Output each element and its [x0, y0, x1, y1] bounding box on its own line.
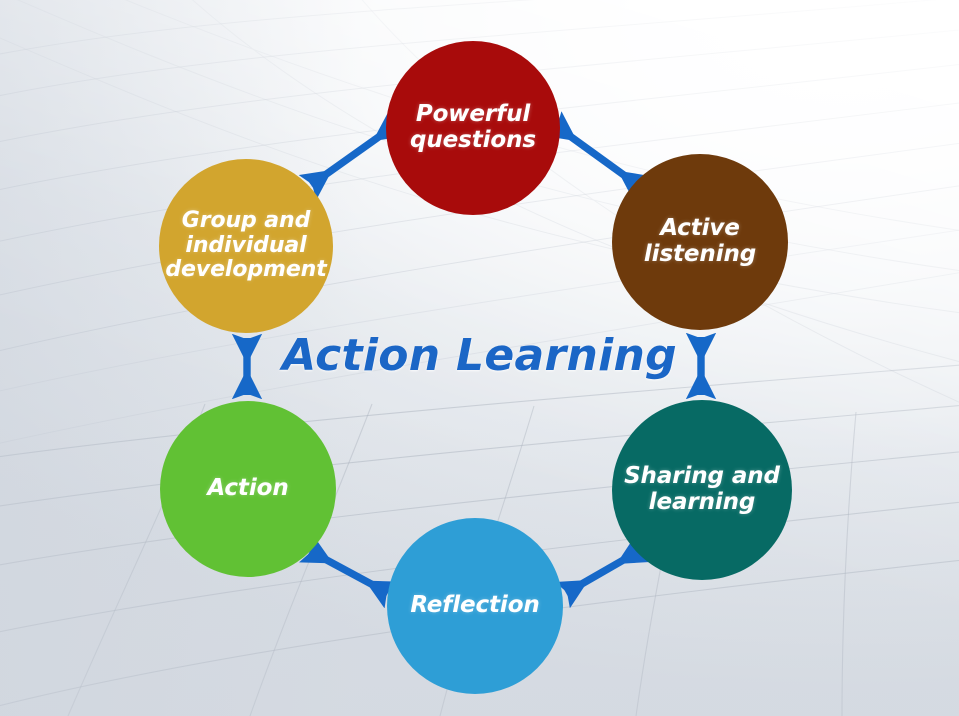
- node-sharing-and-learning[interactable]: Sharing and learning: [612, 400, 792, 580]
- node-label-active-listening: Active listening: [638, 216, 762, 268]
- node-label-powerful-questions: Powerful questions: [404, 102, 542, 154]
- node-active-listening[interactable]: Active listening: [612, 154, 788, 330]
- node-label-sharing-and-learning: Sharing and learning: [618, 464, 786, 516]
- arrow-reflection-to-action: [310, 551, 388, 593]
- node-label-action: Action: [201, 476, 294, 502]
- node-label-reflection: Reflection: [404, 593, 545, 619]
- arrow-powerful-questions-to-active-listening: [556, 126, 639, 186]
- node-powerful-questions[interactable]: Powerful questions: [386, 41, 560, 215]
- arrow-group-development-to-powerful-questions: [311, 126, 394, 185]
- node-action[interactable]: Action: [160, 401, 336, 577]
- action-learning-diagram: Powerful questions Active listening Shar…: [0, 0, 959, 716]
- node-group-and-individual-development[interactable]: Group and individual development: [159, 159, 333, 333]
- arrow-sharing-learning-to-reflection: [566, 551, 639, 593]
- node-reflection[interactable]: Reflection: [387, 518, 563, 694]
- node-label-group-and-individual-development: Group and individual development: [159, 209, 332, 283]
